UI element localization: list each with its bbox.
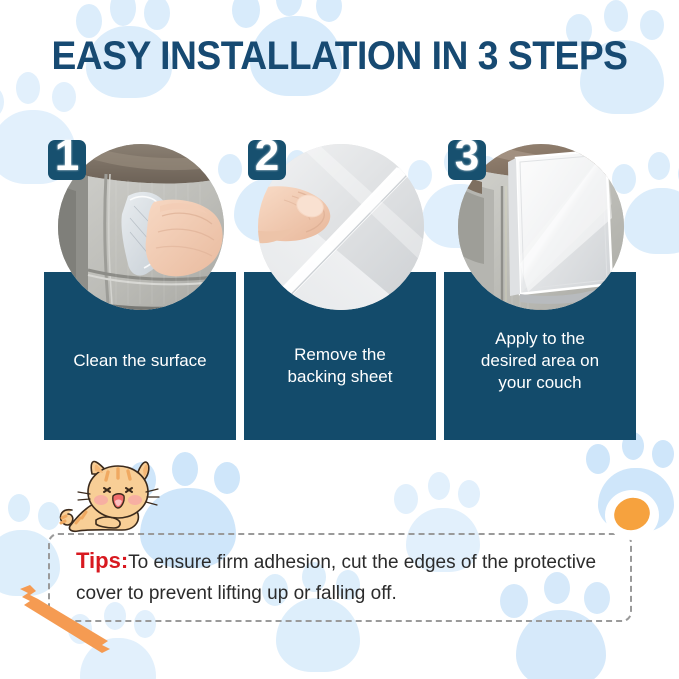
step-card-3[interactable]: Apply to the desired area on your couch <box>444 132 636 440</box>
cat-mascot-icon <box>56 456 176 544</box>
step-card-1[interactable]: Clean the surface <box>44 132 236 440</box>
step-label-3-line-3: your couch <box>444 372 636 394</box>
step-number-3: 3 <box>448 131 486 181</box>
page-title-text: EASY INSTALLATION IN 3 STEPS <box>24 36 655 76</box>
tips-box: Tips:To ensure firm adhesion, cut the ed… <box>48 533 632 622</box>
installation-infographic: EASY INSTALLATION IN 3 STEPS Clean the s… <box>0 0 679 679</box>
step-label-3-line-1: Apply to the <box>444 328 636 350</box>
step-label-3-line-2: desired area on <box>444 350 636 372</box>
step-number-2: 2 <box>248 131 286 181</box>
step-label-2: Remove the backing sheet <box>244 344 436 388</box>
tips-body: To ensure firm adhesion, cut the edges o… <box>76 552 596 604</box>
step-badge-1: 1 <box>48 140 86 180</box>
step-label-3: Apply to the desired area on your couch <box>444 328 636 393</box>
step-label-2-line-1: Remove the <box>244 344 436 366</box>
step-badge-2: 2 <box>248 140 286 180</box>
tips-label: Tips: <box>76 548 128 573</box>
step-label-2-line-2: backing sheet <box>244 366 436 388</box>
orange-dot-decoration <box>604 489 660 541</box>
step-label-1: Clean the surface <box>44 350 236 372</box>
tips-text: Tips:To ensure firm adhesion, cut the ed… <box>76 545 606 609</box>
step-number-1: 1 <box>48 131 86 181</box>
step-card-2[interactable]: Remove the backing sheet <box>244 132 436 440</box>
page-title: EASY INSTALLATION IN 3 STEPS <box>0 36 679 76</box>
steps-row: Clean the surface <box>44 132 636 440</box>
orange-tape-decoration <box>14 583 120 655</box>
step-badge-3: 3 <box>448 140 486 180</box>
